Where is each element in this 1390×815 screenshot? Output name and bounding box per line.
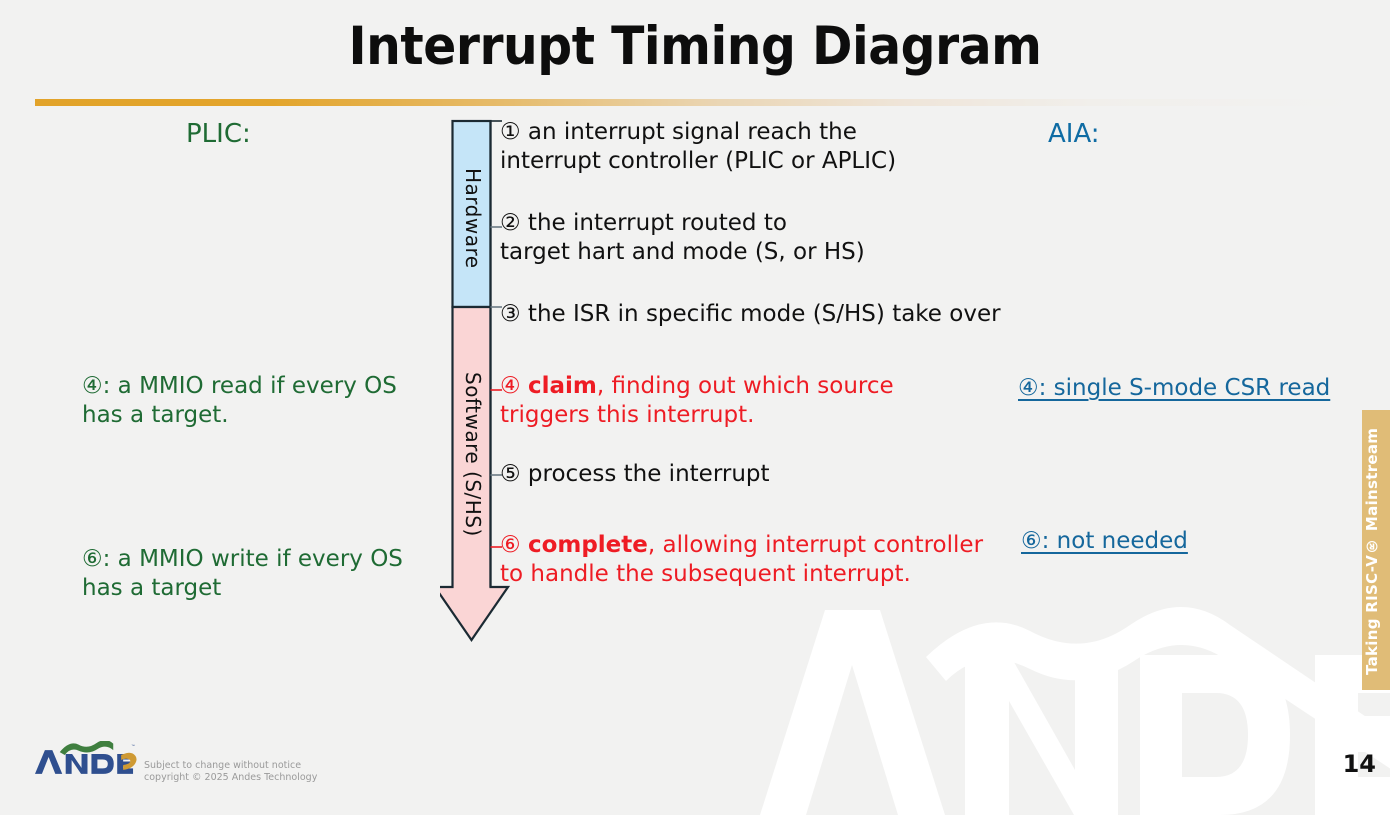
step-item-1: ① an interrupt signal reach the interrup… — [500, 118, 896, 176]
svg-text:™: ™ — [131, 744, 135, 750]
aia-note-complete: ⑥: not needed — [1021, 527, 1188, 556]
step-4-prefix: ④ — [500, 373, 528, 399]
plic-note-claim: ④: a MMIO read if every OS has a target. — [82, 372, 462, 430]
footer-legal-text: Subject to change without notice copyrig… — [144, 760, 317, 783]
step-item-3: ③ the ISR in specific mode (S/HS) take o… — [500, 300, 1001, 329]
plic-column-heading: PLIC: — [186, 119, 251, 149]
step-6-prefix: ⑥ — [500, 532, 528, 558]
page-number: 14 — [1343, 750, 1376, 778]
plic-note-complete: ⑥: a MMIO write if every OS has a target — [82, 545, 462, 603]
step-6-keyword: complete — [528, 532, 648, 558]
hardware-band-label: Hardware — [461, 168, 485, 269]
aia-note-claim: ④: single S-mode CSR read — [1018, 374, 1330, 403]
side-bookmark-label: Taking RISC-V® Mainstream — [1363, 415, 1389, 687]
software-band-label: Software (S/HS) — [461, 372, 485, 537]
title-divider — [35, 99, 1355, 106]
step-item-2: ② the interrupt routed to target hart an… — [500, 209, 865, 267]
step-4-keyword: claim — [528, 373, 597, 399]
page-title: Interrupt Timing Diagram — [56, 16, 1335, 77]
step-item-6: ⑥ complete, allowing interrupt controlle… — [500, 531, 983, 589]
step-item-4: ④ claim, finding out which source trigge… — [500, 372, 894, 430]
andes-logo: ™ — [34, 741, 138, 777]
aia-column-heading: AIA: — [1048, 119, 1100, 149]
step-item-5: ⑤ process the interrupt — [500, 460, 770, 489]
andes-watermark — [730, 585, 1390, 815]
